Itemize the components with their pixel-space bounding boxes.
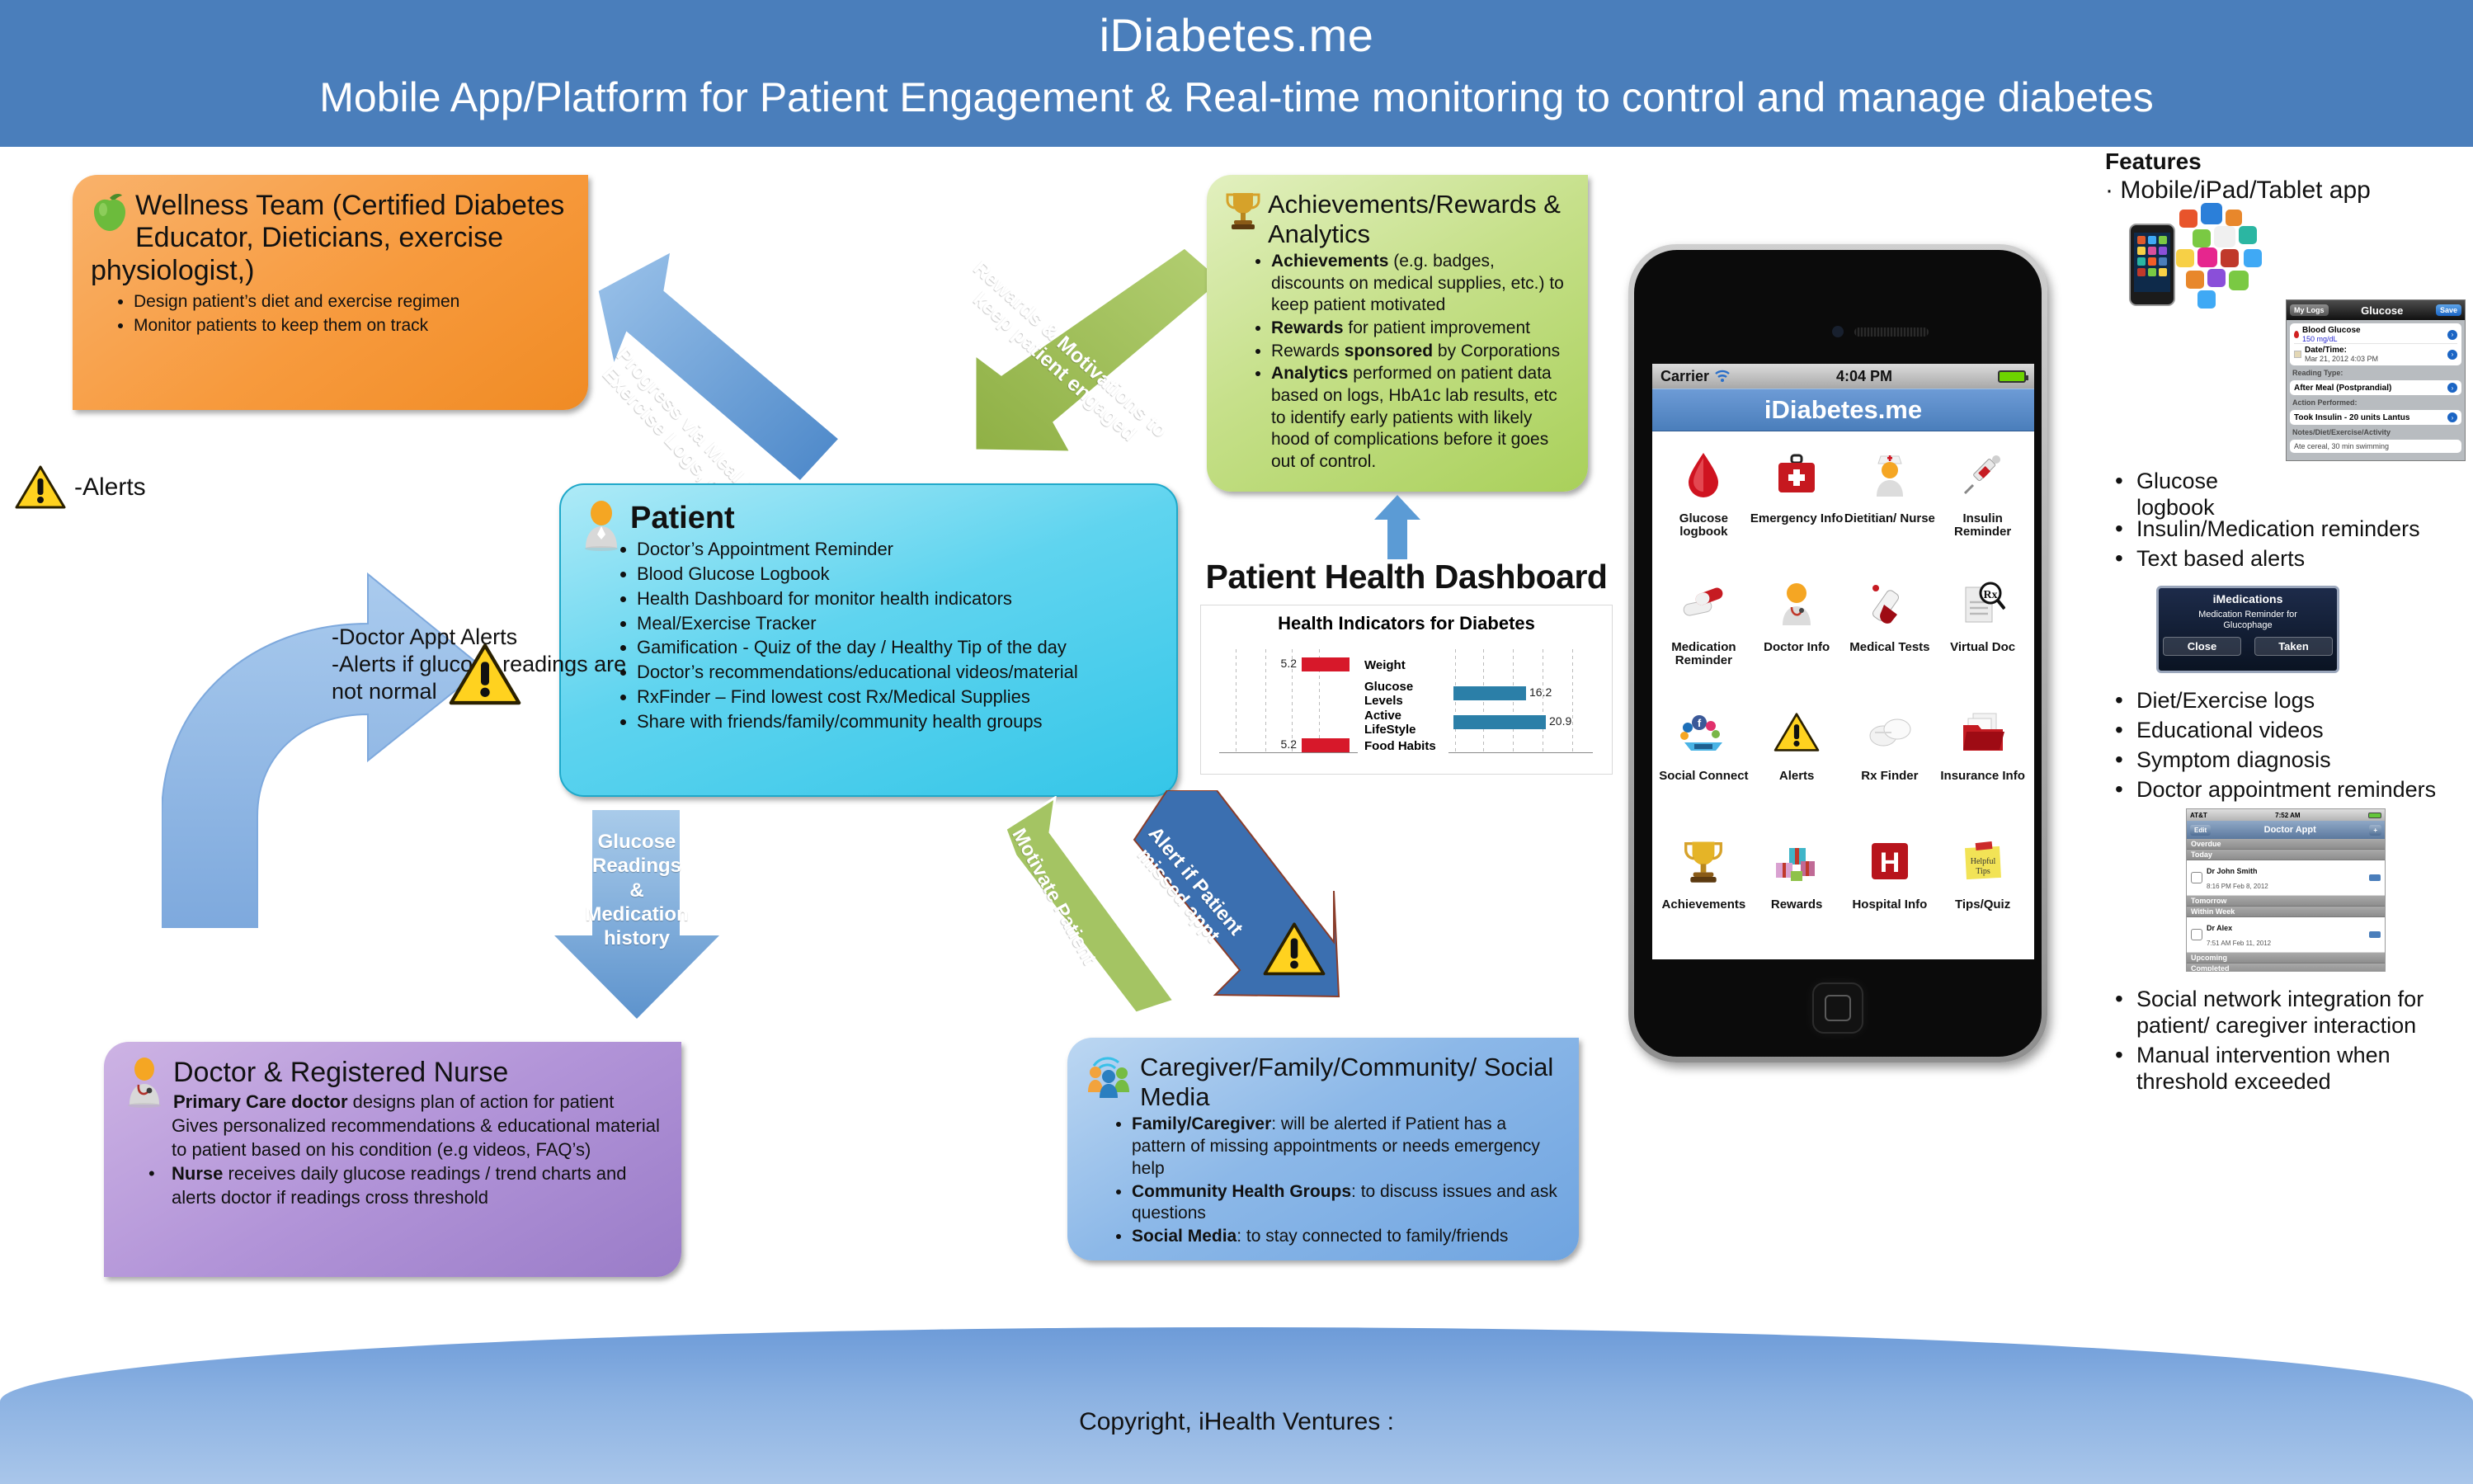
list-item: Doctor’s Appointment Reminder — [637, 538, 1158, 562]
chart-row: Glucose Levels 16.2 — [1201, 681, 1612, 706]
doctor-stethoscope-icon — [1775, 568, 1818, 639]
arrow-glucose-readings: Glucose Readings & Medication history — [554, 810, 719, 1020]
my-logs-button[interactable]: My Logs — [2290, 304, 2329, 316]
front-camera-icon — [1832, 326, 1844, 337]
right-bar-cell — [1450, 652, 1607, 677]
reading-type-label: Reading Type: — [2292, 369, 2465, 377]
chevron-right-icon[interactable]: › — [2447, 350, 2457, 360]
patient-bullets: Doctor’s Appointment Reminder Blood Gluc… — [637, 538, 1158, 734]
list-item: Achievements (e.g. badges, discounts on … — [1271, 251, 1570, 317]
caregiver-community-box: Caregiver/Family/Community/ Social Media… — [1067, 1038, 1579, 1260]
list-item: Social Media: to stay connected to famil… — [1132, 1226, 1561, 1248]
list-item: Symptom diagnosis — [2105, 747, 2468, 774]
glucose-reading-card: Blood Glucose 150 mg/dL › Date/Time: Mar… — [2290, 323, 2461, 365]
tablets-icon — [1867, 697, 1913, 768]
app-label: Achievements — [1662, 898, 1746, 912]
achievements-bullets: Achievements (e.g. badges, discounts on … — [1271, 251, 1570, 473]
arrow-curved-right-shape — [162, 544, 533, 928]
wellness-team-bullets: Design patient’s diet and exercise regim… — [134, 290, 570, 337]
app-icon-medical-tests[interactable]: Medical Tests — [1844, 568, 1937, 697]
app-label: Medical Tests — [1849, 641, 1929, 654]
chevron-right-icon[interactable]: › — [2447, 383, 2457, 393]
wellness-team-title: Wellness Team (Certified Diabetes Educat… — [91, 190, 570, 287]
bar-right-value: 16.2 — [1529, 685, 1552, 699]
phone-app-grid: Glucose logbook Emergency Info Dietitian… — [1652, 431, 2034, 958]
svg-text:Tips: Tips — [1976, 867, 1990, 876]
list-item: Doctor appointment reminders — [2105, 777, 2468, 803]
bullet-lead: Community Health Groups — [1132, 1182, 1351, 1201]
reading-type-value: After Meal (Postprandial) — [2294, 384, 2391, 393]
detail-icon — [2369, 931, 2381, 938]
phone-clock: 4:04 PM — [1731, 368, 1998, 385]
arrow-rewards-motivations: Rewards & Motivations to keep patient en… — [963, 244, 1227, 483]
carrier-area: Carrier — [1660, 368, 1731, 385]
copyright-text: Copyright, iHealth Ventures : — [0, 1408, 2473, 1436]
app-label: Glucose logbook — [1657, 512, 1750, 539]
footer-band — [0, 1327, 2473, 1484]
doctor-avatar-icon — [122, 1057, 167, 1108]
app-label: Rewards — [1771, 898, 1823, 912]
patient-health-dashboard: Patient Health Dashboard Health Indicato… — [1200, 558, 1613, 776]
app-icon-tips-quiz[interactable]: HelpfulTips Tips/Quiz — [1936, 826, 2029, 954]
bullet-rest: : to stay connected to family/friends — [1236, 1227, 1508, 1246]
achievements-title: Achievements/Rewards & Analytics — [1225, 190, 1570, 249]
phone-navbar: iDiabetes.me — [1652, 389, 2034, 431]
right-bar-cell: 16.2 — [1450, 681, 1607, 706]
close-button[interactable]: Close — [2163, 637, 2241, 656]
bullet-lead: Social Media — [1132, 1227, 1236, 1246]
doctor-appt-screenshot: AT&T 7:52 AM Edit Doctor Appt + Overdue … — [2186, 808, 2386, 972]
wellness-team-box: Wellness Team (Certified Diabetes Educat… — [73, 175, 588, 410]
warning-triangle-icon — [15, 464, 66, 511]
list-item: RxFinder – Find lowest cost Rx/Medical S… — [637, 685, 1158, 709]
red-folder-icon — [1960, 697, 2006, 768]
notes-label: Notes/Diet/Exercise/Activity — [2292, 428, 2465, 436]
edit-button[interactable]: Edit — [2190, 825, 2211, 836]
list-item: Monitor patients to keep them on track — [134, 314, 570, 337]
glucose-app-title: Glucose — [2361, 304, 2403, 317]
action-performed-value: Took Insulin - 20 units Lantus — [2294, 413, 2409, 422]
arrow-missed-appt: Alert if Patient missed appt — [1118, 790, 1340, 1005]
reading-type-field[interactable]: After Meal (Postprandial)› — [2290, 380, 2461, 395]
appt-time: 7:51 AM Feb 11, 2012 — [2207, 940, 2271, 947]
add-button[interactable]: + — [2369, 825, 2381, 836]
appt-status-bar: AT&T 7:52 AM — [2187, 809, 2385, 821]
doctor-nurse-lines: Primary Care doctor designs plan of acti… — [172, 1091, 663, 1209]
appt-time: 8:16 PM Feb 8, 2012 — [2207, 883, 2268, 890]
svg-text:f: f — [1698, 717, 1702, 729]
row-value: Mar 21, 2012 4:03 PM — [2305, 355, 2378, 363]
tornado-chart: 5.2 Weight Glucose Levels 16.2 Active Li… — [1201, 634, 1612, 766]
carrier-label: AT&T — [2190, 812, 2207, 819]
caregiver-bullets: Family/Caregiver: will be alerted if Pat… — [1132, 1114, 1561, 1248]
appt-title: Doctor Appt — [2264, 825, 2316, 835]
bullet-lead: Achievements — [1271, 252, 1388, 271]
rx-magnifier-icon: Rx — [1961, 568, 2005, 639]
app-icon-glucose-logbook[interactable]: Glucose logbook — [1657, 440, 1750, 568]
arrow-dashboard-to-achievements — [1373, 495, 1422, 559]
list-item: Primary Care doctor designs plan of acti… — [172, 1091, 663, 1161]
bar-right-value: 20.9 — [1549, 714, 1571, 728]
bullet-rest: for patient improvement — [1344, 318, 1530, 337]
blood-glucose-row[interactable]: Blood Glucose 150 mg/dL › — [2294, 326, 2457, 343]
app-icon-medication-reminder[interactable]: Medication Reminder — [1657, 568, 1750, 697]
warning-triangle-icon — [1263, 921, 1326, 978]
app-icon-insulin-reminder[interactable]: Insulin Reminder — [1936, 440, 2029, 568]
warning-triangle-icon — [449, 642, 521, 708]
arrow-down-left-shape — [963, 244, 1227, 483]
app-label: Medication Reminder — [1657, 641, 1750, 667]
list-item: Analytics performed on patient data base… — [1271, 363, 1570, 473]
app-label: Virtual Doc — [1950, 641, 2015, 654]
green-apple-icon — [91, 190, 129, 233]
checkbox-unchecked[interactable] — [2191, 872, 2202, 883]
right-bar-cell — [1450, 733, 1607, 758]
action-performed-field[interactable]: Took Insulin - 20 units Lantus› — [2290, 410, 2461, 425]
left-bar-cell: 5.2 — [1201, 652, 1358, 677]
app-label: Rx Finder — [1861, 770, 1918, 783]
list-item: Health Dashboard for monitor health indi… — [637, 587, 1158, 611]
section-overdue: Overdue — [2187, 839, 2385, 850]
bar-right — [1453, 715, 1546, 729]
bullet-lead: Family/Caregiver — [1132, 1114, 1271, 1133]
section-upcoming: Upcoming — [2187, 953, 2385, 963]
list-item: Rewards for patient improvement — [1271, 318, 1570, 340]
taken-button[interactable]: Taken — [2254, 637, 2333, 656]
right-bar-cell: 20.9 — [1450, 710, 1607, 735]
first-aid-kit-icon — [1775, 440, 1818, 511]
people-group-icon — [1086, 1053, 1133, 1100]
section-today: Today — [2187, 850, 2385, 860]
glucose-app-navbar: My Logs Glucose Save — [2287, 300, 2465, 320]
appt-name: Dr Alex — [2207, 924, 2232, 932]
calendar-icon — [2294, 351, 2301, 358]
page-header: iDiabetes.me Mobile App/Platform for Pat… — [0, 0, 2473, 147]
list-item: Meal/Exercise Tracker — [637, 612, 1158, 636]
app-icon-doctor-info[interactable]: Doctor Info — [1750, 568, 1844, 697]
chart-category-label: Glucose Levels — [1358, 680, 1450, 708]
phone-status-bar: Carrier 4:04 PM — [1652, 364, 2034, 389]
chart-row: 5.2 Weight — [1201, 652, 1612, 677]
arrow-doctor-alerts: -Doctor Appt Alerts -Alerts if glucose r… — [162, 544, 533, 928]
chart-row: Active LifeStyle 20.9 — [1201, 710, 1612, 735]
list-item: Family/Caregiver: will be alerted if Pat… — [1132, 1114, 1561, 1180]
trophy-icon — [1225, 190, 1261, 231]
notes-value: Ate cereal, 30 min swimming — [2294, 442, 2389, 450]
appt-clock: 7:52 AM — [2207, 812, 2368, 819]
page-subtitle: Mobile App/Platform for Patient Engageme… — [0, 73, 2473, 121]
nurse-icon — [1868, 440, 1911, 511]
chart-category-label: Weight — [1358, 658, 1450, 672]
list-item: Community Health Groups: to discuss issu… — [1132, 1181, 1561, 1226]
doctor-nurse-box: Doctor & Registered Nurse Primary Care d… — [104, 1042, 681, 1277]
left-bar-cell: 5.2 — [1201, 733, 1358, 758]
chart-category-label: Active LifeStyle — [1358, 709, 1450, 737]
alerts-legend: -Alerts — [15, 459, 229, 516]
earpiece-speaker-icon — [1854, 327, 1929, 337]
syringe-icon — [1960, 440, 2006, 511]
list-item: Rewards sponsored by Corporations — [1271, 341, 1570, 363]
sticky-note-icon: HelpfulTips — [1962, 826, 2004, 897]
app-label: Insurance Info — [1940, 770, 2025, 783]
line-lead: Primary Care doctor — [173, 1091, 348, 1112]
date-time-row[interactable]: Date/Time: Mar 21, 2012 4:03 PM › — [2294, 343, 2457, 363]
list-item: Manual intervention when threshold excee… — [2105, 1043, 2468, 1095]
blood-vial-icon — [1868, 568, 1912, 639]
list-item: Social network integration for patient/ … — [2105, 987, 2468, 1039]
app-label: Tips/Quiz — [1955, 898, 2010, 912]
popup-title: iMedications — [2159, 592, 2337, 605]
app-icon-dietitian-nurse[interactable]: Dietitian/ Nurse — [1844, 440, 1937, 568]
battery-icon — [2368, 813, 2381, 818]
svg-text:Rx: Rx — [1983, 589, 1997, 601]
appt-navbar: Edit Doctor Appt + — [2187, 821, 2385, 839]
popup-body-line2: Glucophage — [2159, 620, 2337, 631]
chart-row: 5.2 Food Habits — [1201, 733, 1612, 758]
app-label: Emergency Info — [1750, 512, 1844, 525]
svg-text:Helpful: Helpful — [1970, 857, 1995, 866]
detail-icon — [2369, 874, 2381, 881]
line-rest: receives daily glucose readings / trend … — [172, 1163, 627, 1208]
popup-body-line1: Medication Reminder for — [2159, 610, 2337, 620]
glucose-app-screenshot: My Logs Glucose Save Blood Glucose 150 m… — [2286, 299, 2466, 461]
app-icon-achievements[interactable]: Achievements — [1657, 826, 1750, 954]
list-item: Glucose logbook — [2105, 469, 2278, 521]
app-label: Social Connect — [1659, 770, 1748, 783]
list-item: Educational videos — [2105, 718, 2468, 744]
checkbox-unchecked[interactable] — [2191, 929, 2202, 940]
doctor-nurse-title: Doctor & Registered Nurse — [122, 1057, 663, 1089]
section-completed: Completed — [2187, 963, 2385, 972]
pills-capsule-icon — [1680, 568, 1726, 639]
medication-reminder-popup: iMedications Medication Reminder for Glu… — [2156, 586, 2339, 673]
list-item: Design patient’s diet and exercise regim… — [134, 290, 570, 313]
features-panel: Features · Mobile/iPad/Tablet app — [2105, 148, 2468, 1328]
home-button[interactable] — [1812, 982, 1863, 1034]
features-list-bottom: Social network integration for patient/ … — [2105, 987, 2468, 1098]
list-item: Insulin/Medication reminders — [2105, 516, 2468, 543]
caregiver-title: Caregiver/Family/Community/ Social Media — [1086, 1053, 1561, 1112]
features-list-lower: Diet/Exercise logs Educational videos Sy… — [2105, 688, 2468, 806]
phone-body: Carrier 4:04 PM iDiabetes.me — [1634, 250, 2042, 1057]
dashboard-title: Patient Health Dashboard — [1200, 558, 1613, 596]
bullet-bold-word: sponsored — [1345, 342, 1433, 360]
left-bar-cell — [1201, 681, 1358, 706]
svg-text:H: H — [1880, 847, 1901, 879]
patient-avatar-icon — [579, 500, 624, 551]
notes-field[interactable]: Ate cereal, 30 min swimming — [2290, 440, 2461, 453]
bullet-lead: Rewards — [1271, 318, 1344, 337]
hospital-h-icon: H — [1869, 826, 1910, 897]
app-label: Insulin Reminder — [1936, 512, 2029, 539]
battery-icon — [1998, 370, 2026, 383]
appt-name: Dr John Smith — [2207, 867, 2258, 875]
list-item: Text based alerts — [2105, 546, 2468, 572]
list-item: Share with friends/family/community heal… — [637, 710, 1158, 734]
alerts-legend-label: -Alerts — [74, 473, 146, 502]
app-label: Alerts — [1779, 770, 1815, 783]
section-tomorrow: Tomorrow — [2187, 896, 2385, 907]
arrow-up-left-shape — [592, 247, 864, 487]
blood-drop-icon — [1685, 440, 1722, 511]
row-value: 150 mg/dL — [2302, 335, 2338, 343]
row-label: Date/Time: — [2305, 346, 2347, 355]
arrow-progress-via-meal: Progress via Meal & Exercise Logs, etc. — [592, 247, 864, 487]
chevron-right-icon[interactable]: › — [2447, 330, 2457, 340]
list-item: Gamification - Quiz of the day / Healthy… — [637, 636, 1158, 660]
left-bar-cell — [1201, 710, 1358, 735]
patient-title: Patient — [579, 500, 1158, 536]
app-icon-insurance-info[interactable]: Insurance Info — [1936, 697, 2029, 826]
popup-buttons: Close Taken — [2159, 637, 2337, 656]
bar-right — [1453, 686, 1526, 700]
bullet-lead: Analytics — [1271, 364, 1348, 383]
app-icon-emergency-info[interactable]: Emergency Info — [1750, 440, 1844, 568]
arrow-down-shape — [554, 810, 719, 1020]
social-media-icon: f — [1679, 697, 1727, 768]
features-list-mid: Insulin/Medication reminders Text based … — [2105, 516, 2468, 576]
line-lead: Nurse — [172, 1163, 223, 1184]
blood-drop-icon — [2294, 331, 2299, 338]
app-label: Dietitian/ Nurse — [1844, 512, 1935, 525]
bar-left — [1302, 738, 1350, 752]
app-icon-alerts[interactable]: Alerts — [1750, 697, 1844, 826]
trophy-icon — [1683, 826, 1724, 897]
list-item: Doctor’s recommendations/educational vid… — [637, 661, 1158, 685]
app-icon-hospital-info[interactable]: H Hospital Info — [1844, 826, 1937, 954]
app-label: Hospital Info — [1852, 898, 1927, 912]
app-label: Doctor Info — [1764, 641, 1830, 654]
chart-subtitle: Health Indicators for Diabetes — [1201, 613, 1612, 634]
infographic-canvas: iDiabetes.me Mobile App/Platform for Pat… — [0, 0, 2473, 1484]
iphone-mockup: Carrier 4:04 PM iDiabetes.me — [1628, 244, 2047, 1062]
list-item: Blood Glucose Logbook — [637, 563, 1158, 587]
arrow-up-shape — [1373, 495, 1422, 559]
dashboard-panel: Health Indicators for Diabetes — [1200, 605, 1613, 775]
chevron-right-icon[interactable]: › — [2447, 412, 2457, 422]
bar-left-value: 5.2 — [1281, 657, 1297, 670]
bar-left-value: 5.2 — [1281, 737, 1297, 751]
page-title: iDiabetes.me — [0, 8, 2473, 62]
carrier-label: Carrier — [1660, 368, 1709, 385]
appt-list-item[interactable]: Dr John Smith8:16 PM Feb 8, 2012 — [2187, 860, 2385, 896]
bar-left — [1302, 657, 1350, 671]
list-item: Nurse receives daily glucose readings / … — [172, 1162, 663, 1209]
features-heading: Features — [2105, 148, 2468, 175]
app-icon-rx-finder[interactable]: Rx Finder — [1844, 697, 1937, 826]
app-icon-rewards[interactable]: Rewards — [1750, 826, 1844, 954]
wifi-icon — [1714, 370, 1731, 383]
chart-category-label: Food Habits — [1358, 739, 1450, 753]
appt-list-item[interactable]: Dr Alex7:51 AM Feb 11, 2012 — [2187, 917, 2385, 953]
list-item: Diet/Exercise logs — [2105, 688, 2468, 714]
gift-boxes-icon — [1773, 826, 1821, 897]
warning-triangle-icon — [1773, 697, 1820, 768]
achievements-rewards-box: Achievements/Rewards & Analytics Achieve… — [1207, 175, 1588, 492]
app-icon-virtual-doc[interactable]: Rx Virtual Doc — [1936, 568, 2029, 697]
row-label: Blood Glucose — [2302, 326, 2361, 335]
phone-screen: Carrier 4:04 PM iDiabetes.me — [1652, 364, 2034, 959]
app-icon-social-connect[interactable]: f Social Connect — [1657, 697, 1750, 826]
mobile-apps-cloud-illustration — [2122, 198, 2295, 322]
action-performed-label: Action Performed: — [2292, 398, 2465, 407]
section-within-week: Within Week — [2187, 907, 2385, 917]
save-button[interactable]: Save — [2436, 304, 2461, 316]
